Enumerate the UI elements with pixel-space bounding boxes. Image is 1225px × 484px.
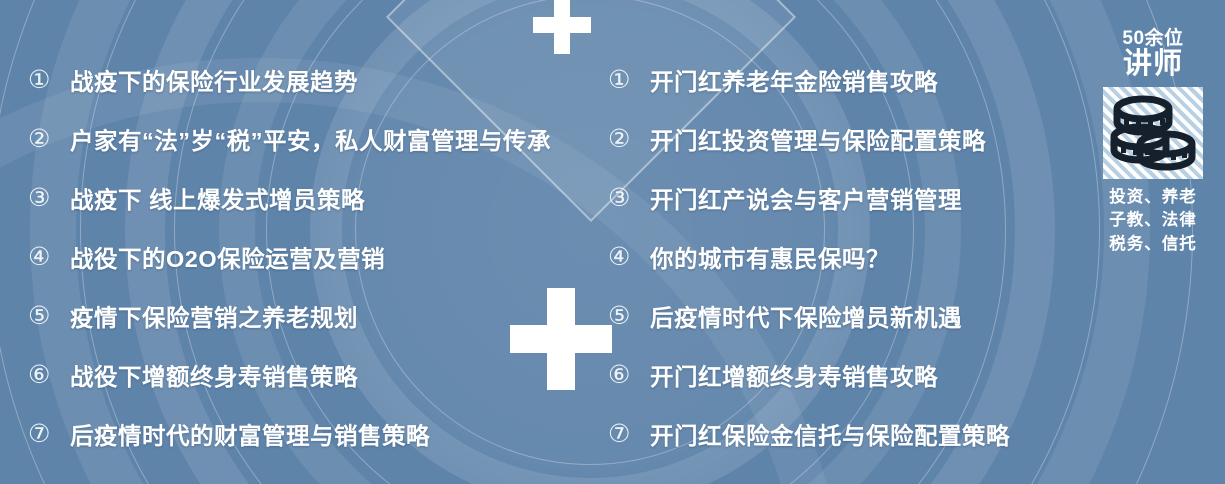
- item-number: ①: [28, 67, 70, 92]
- item-number: ⑦: [608, 421, 650, 446]
- item-number: ③: [608, 185, 650, 210]
- instructor-tag-line: 税务、信托: [1090, 233, 1216, 256]
- list-item[interactable]: ② 开门红投资管理与保险配置策略: [608, 109, 1080, 168]
- list-item[interactable]: ⑦ 开门红保险金信托与保险配置策略: [608, 404, 1080, 463]
- instructor-tag-line: 子教、法律: [1090, 209, 1216, 232]
- item-number: ⑤: [28, 303, 70, 328]
- content-columns: ① 战疫下的保险行业发展趋势 ② 户家有“法”岁“税”平安，私人财富管理与传承 …: [0, 0, 1225, 484]
- item-label: 开门红养老年金险销售攻略: [650, 63, 938, 97]
- item-label: 开门红产说会与客户营销管理: [650, 181, 962, 215]
- list-item[interactable]: ① 战疫下的保险行业发展趋势: [28, 50, 600, 109]
- list-item[interactable]: ② 户家有“法”岁“税”平安，私人财富管理与传承: [28, 109, 600, 168]
- instructor-badge: 50余位 讲师: [1090, 28, 1216, 256]
- item-number: ④: [608, 244, 650, 269]
- item-label: 后疫情时代的财富管理与销售策略: [70, 417, 430, 451]
- list-item[interactable]: ⑥ 开门红增额终身寿销售攻略: [608, 345, 1080, 404]
- instructor-count: 50余位: [1090, 28, 1216, 50]
- item-label: 你的城市有惠民保吗？: [650, 240, 890, 274]
- item-number: ⑦: [28, 421, 70, 446]
- list-item[interactable]: ⑤ 后疫情时代下保险增员新机遇: [608, 286, 1080, 345]
- item-number: ⑥: [608, 362, 650, 387]
- item-number: ④: [28, 244, 70, 269]
- item-label: 战疫下的保险行业发展趋势: [70, 63, 358, 97]
- list-item[interactable]: ⑥ 战役下增额终身寿销售策略: [28, 345, 600, 404]
- item-number: ⑤: [608, 303, 650, 328]
- slide-canvas: ① 战疫下的保险行业发展趋势 ② 户家有“法”岁“税”平安，私人财富管理与传承 …: [0, 0, 1225, 484]
- item-number: ②: [28, 126, 70, 151]
- item-label: 战疫下 线上爆发式增员策略: [70, 181, 365, 215]
- item-label: 开门红投资管理与保险配置策略: [650, 122, 986, 156]
- instructor-tags: 投资、养老 子教、法律 税务、信托: [1090, 186, 1216, 256]
- course-list-left: ① 战疫下的保险行业发展趋势 ② 户家有“法”岁“税”平安，私人财富管理与传承 …: [0, 0, 600, 484]
- list-item[interactable]: ④ 战役下的O2O保险运营及营销: [28, 227, 600, 286]
- instructor-title: 讲师: [1090, 49, 1216, 81]
- list-item[interactable]: ③ 战疫下 线上爆发式增员策略: [28, 168, 600, 227]
- item-number: ③: [28, 185, 70, 210]
- course-list-right: ① 开门红养老年金险销售攻略 ② 开门红投资管理与保险配置策略 ③ 开门红产说会…: [600, 0, 1080, 484]
- list-item[interactable]: ⑤ 疫情下保险营销之养老规划: [28, 286, 600, 345]
- item-label: 疫情下保险营销之养老规划: [70, 299, 358, 333]
- item-label: 开门红保险金信托与保险配置策略: [650, 417, 1010, 451]
- item-number: ②: [608, 126, 650, 151]
- instructor-badge-column: 50余位 讲师: [1080, 0, 1225, 484]
- item-number: ⑥: [28, 362, 70, 387]
- instructor-tag-line: 投资、养老: [1090, 186, 1216, 209]
- coins-stack-icon: [1103, 87, 1203, 179]
- item-label: 后疫情时代下保险增员新机遇: [650, 299, 962, 333]
- item-number: ①: [608, 67, 650, 92]
- list-item[interactable]: ③ 开门红产说会与客户营销管理: [608, 168, 1080, 227]
- list-item[interactable]: ④ 你的城市有惠民保吗？: [608, 227, 1080, 286]
- item-label: 战役下的O2O保险运营及营销: [70, 240, 385, 274]
- item-label: 户家有“法”岁“税”平安，私人财富管理与传承: [70, 122, 551, 156]
- list-item[interactable]: ⑦ 后疫情时代的财富管理与销售策略: [28, 404, 600, 463]
- item-label: 战役下增额终身寿销售策略: [70, 358, 358, 392]
- list-item[interactable]: ① 开门红养老年金险销售攻略: [608, 50, 1080, 109]
- item-label: 开门红增额终身寿销售攻略: [650, 358, 938, 392]
